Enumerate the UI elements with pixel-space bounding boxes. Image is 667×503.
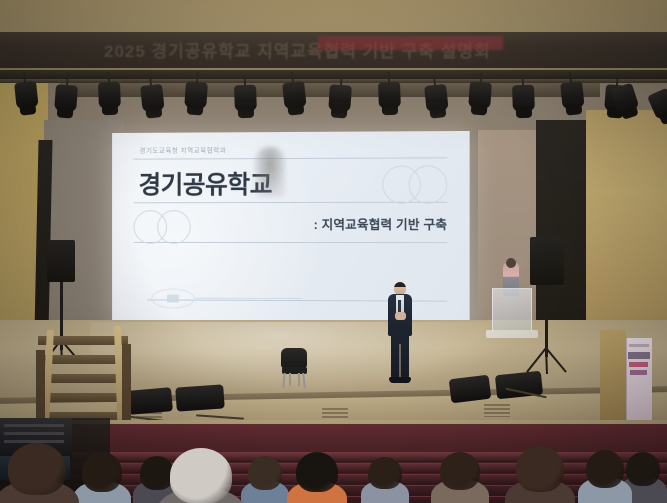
audience-member-head <box>296 452 338 492</box>
audience-member-head <box>586 450 624 488</box>
audience-member <box>8 443 66 503</box>
slide-decoration-circle-d <box>157 210 190 244</box>
poster-line <box>629 344 649 347</box>
stage-monitor-wedge <box>127 387 173 415</box>
stage-light <box>54 84 78 111</box>
audience-member-head <box>8 443 66 495</box>
audience-member <box>440 452 480 503</box>
stage-vent-grille <box>484 404 510 417</box>
audience-member-head <box>440 452 480 490</box>
light-yoke <box>244 75 246 85</box>
chair-backrest <box>281 348 307 368</box>
stage-light <box>512 85 535 112</box>
slide-subtitle: : 지역교육협력 기반 구축 <box>314 214 448 233</box>
podium-attendant-head <box>506 258 516 268</box>
pa-speaker-left <box>47 240 75 282</box>
light-yoke <box>522 75 524 85</box>
chair-leg <box>302 373 306 388</box>
audience-member <box>296 452 338 503</box>
stage-light <box>328 84 352 111</box>
slide-decoration-circle-b <box>409 165 448 203</box>
chair-leg <box>282 373 286 388</box>
rack-slot <box>4 424 64 427</box>
pa-speaker-right <box>530 237 564 285</box>
pa-speaker-right-stand <box>545 285 548 357</box>
rack-slot <box>4 432 64 435</box>
stage-light <box>282 81 307 109</box>
banner-accent-stripe <box>318 36 503 50</box>
audience-member-head <box>368 457 402 489</box>
stage-light <box>14 81 39 109</box>
audience-member-head <box>140 456 174 490</box>
stair-step <box>38 393 128 402</box>
poster-line <box>630 370 647 375</box>
presenter <box>386 282 414 386</box>
projection-screen: 경기도교육청 지역교육협력과 경기공유학교 : 지역교육협력 기반 구축 <box>112 131 470 333</box>
audience-member-head <box>82 452 122 492</box>
lighting-truss <box>0 70 667 79</box>
pa-speaker-right-tripod <box>522 348 570 374</box>
stage-light <box>424 84 449 112</box>
light-yoke <box>388 72 390 82</box>
stage-light <box>234 85 257 112</box>
audience-member-head <box>626 452 660 486</box>
audience-member <box>248 456 282 503</box>
audience-member-head <box>516 446 564 492</box>
stage-light <box>140 84 165 112</box>
stage-light <box>560 81 585 109</box>
poster-line <box>628 352 650 359</box>
audience-member-head <box>248 456 282 490</box>
chair-leg <box>298 373 300 386</box>
lectern-base <box>486 330 538 338</box>
slide-title: 경기공유학교 <box>139 165 273 201</box>
presenter-hands <box>395 312 406 320</box>
slide-logo-mark <box>167 295 179 303</box>
stage-light <box>98 82 121 109</box>
chair-leg <box>289 373 291 386</box>
audience-member <box>516 446 564 503</box>
auditorium-photo: 2025 경기공유학교 지역교육협력 기반 구축 설명회 경기도교육청 지역교육… <box>0 0 667 503</box>
stage-light <box>378 82 401 109</box>
slide-eyebrow: 경기도교육청 지역교육협력과 <box>140 144 227 154</box>
stage-light <box>468 81 492 108</box>
audience-member <box>368 457 402 503</box>
audience-member-head <box>170 448 232 503</box>
poster-line <box>629 362 648 367</box>
stage-light <box>184 81 208 108</box>
presenter-leg-gap <box>399 344 401 378</box>
presenter-shadow-on-screen <box>255 147 285 197</box>
stage-chair <box>281 348 307 386</box>
stage-monitor-wedge <box>175 384 225 411</box>
presenter-shoes <box>389 377 411 383</box>
audience-member <box>82 452 122 503</box>
audience-member <box>170 448 232 503</box>
stage-monitor-wedge <box>449 375 492 404</box>
audience-member <box>586 450 624 503</box>
light-yoke <box>108 72 110 82</box>
projected-slide: 경기도교육청 지역교육협력과 경기공유학교 : 지역교육협력 기반 구축 <box>112 131 470 333</box>
acrylic-lectern <box>492 288 532 334</box>
